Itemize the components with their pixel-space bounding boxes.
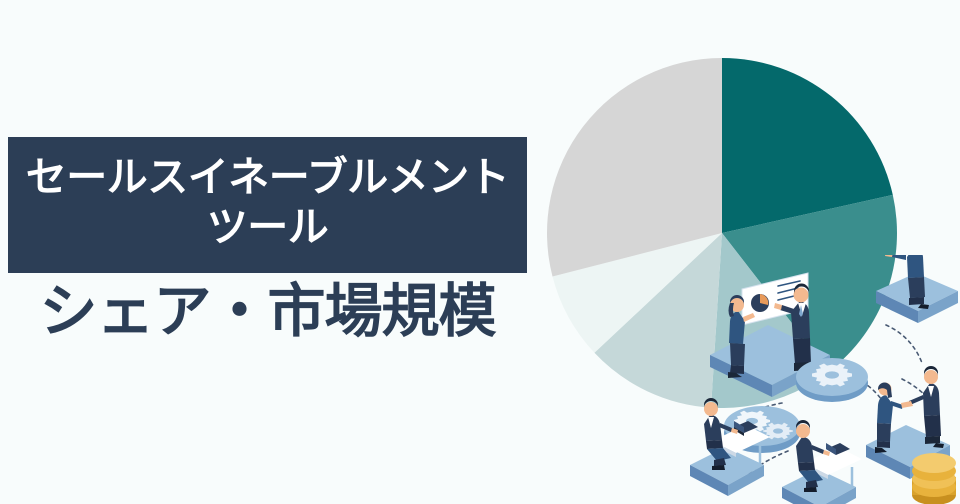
headline-box: セールスイネーブルメント ツール <box>8 137 527 273</box>
subtitle-text: シェア・市場規模 <box>8 280 527 345</box>
isometric-illustration <box>690 255 960 504</box>
poster-canvas: セールスイネーブルメント ツール シェア・市場規模 <box>0 0 960 504</box>
illustration-svg <box>690 255 960 504</box>
headline-box-text: セールスイネーブルメント ツール <box>26 152 510 252</box>
gear-disc-large <box>796 358 868 402</box>
coin-stack <box>912 453 956 504</box>
